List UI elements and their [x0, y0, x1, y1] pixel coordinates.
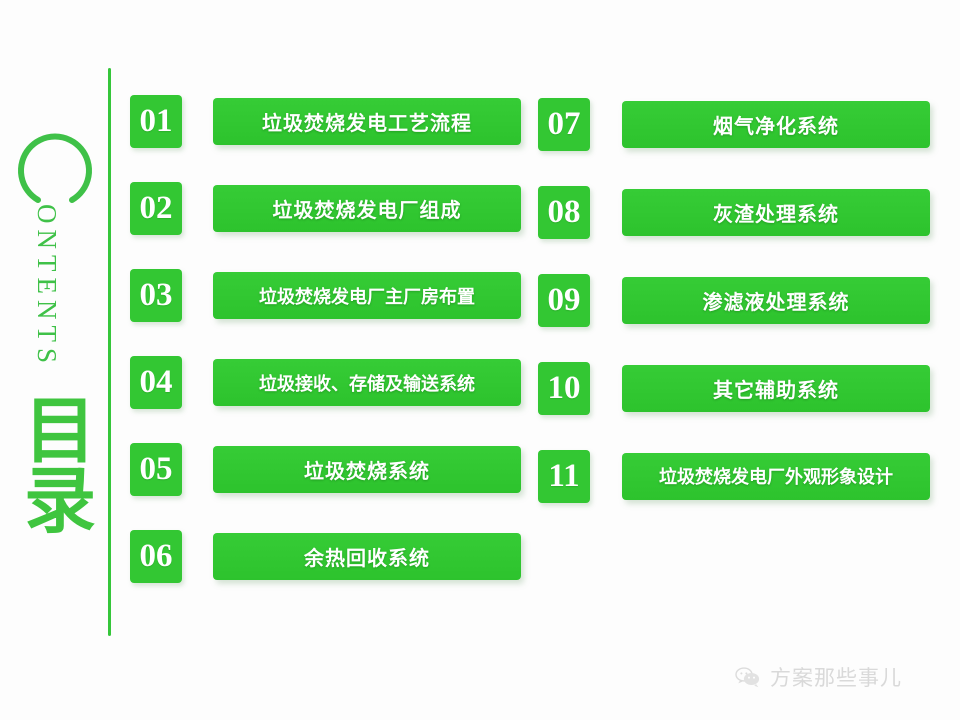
toc-title-bar[interactable]: 其它辅助系统 — [622, 365, 930, 412]
contents-c-letter-ring — [14, 118, 96, 206]
toc-item[interactable]: 11 垃圾焚烧发电厂外观形象设计 — [538, 450, 930, 502]
toc-number-badge: 10 — [538, 362, 590, 415]
toc-title-bar[interactable]: 垃圾焚烧发电厂外观形象设计 — [622, 453, 930, 500]
toc-number-badge: 05 — [130, 443, 182, 496]
toc-item[interactable]: 02 垃圾焚烧发电厂组成 — [130, 182, 521, 235]
toc-number-badge: 03 — [130, 269, 182, 322]
contents-cjk-heading: 目 录 — [22, 396, 98, 536]
toc-title-bar[interactable]: 垃圾焚烧发电厂组成 — [213, 185, 521, 232]
toc-number-badge: 04 — [130, 356, 182, 409]
toc-item[interactable]: 06 余热回收系统 — [130, 530, 521, 583]
c-ring-icon — [14, 118, 96, 206]
toc-number-badge: 02 — [130, 182, 182, 235]
toc-item[interactable]: 04 垃圾接收、存储及输送系统 — [130, 356, 521, 409]
contents-latin-word: ONTENTS — [19, 204, 75, 404]
toc-title-bar[interactable]: 灰渣处理系统 — [622, 189, 930, 236]
toc-title-bar[interactable]: 渗滤液处理系统 — [622, 277, 930, 324]
toc-number-badge: 11 — [538, 450, 590, 503]
contents-slide: ONTENTS 目 录 01 垃圾焚烧发电工艺流程 02 垃圾焚烧发电厂组成 0… — [0, 0, 960, 720]
toc-number-badge: 06 — [130, 530, 182, 583]
toc-number-badge: 01 — [130, 95, 182, 148]
toc-number-badge: 07 — [538, 98, 590, 151]
wechat-bubbles-icon — [735, 666, 761, 688]
toc-title-bar[interactable]: 垃圾焚烧系统 — [213, 446, 521, 493]
toc-item[interactable]: 08 灰渣处理系统 — [538, 186, 930, 238]
watermark: 方案那些事儿 — [735, 662, 902, 692]
contents-cjk-char-1: 目 — [22, 396, 98, 466]
toc-number-badge: 08 — [538, 186, 590, 239]
toc-item[interactable]: 03 垃圾焚烧发电厂主厂房布置 — [130, 269, 521, 322]
contents-cjk-char-2: 录 — [22, 466, 98, 536]
toc-column-right: 07 烟气净化系统 08 灰渣处理系统 09 渗滤液处理系统 10 其它辅助系统… — [538, 98, 930, 538]
toc-column-left: 01 垃圾焚烧发电工艺流程 02 垃圾焚烧发电厂组成 03 垃圾焚烧发电厂主厂房… — [130, 95, 521, 617]
toc-item[interactable]: 07 烟气净化系统 — [538, 98, 930, 150]
toc-title-bar[interactable]: 垃圾接收、存储及输送系统 — [213, 359, 521, 406]
vertical-divider — [108, 68, 111, 636]
toc-item[interactable]: 09 渗滤液处理系统 — [538, 274, 930, 326]
toc-title-bar[interactable]: 余热回收系统 — [213, 533, 521, 580]
toc-title-bar[interactable]: 垃圾焚烧发电厂主厂房布置 — [213, 272, 521, 319]
toc-item[interactable]: 01 垃圾焚烧发电工艺流程 — [130, 95, 521, 148]
toc-number-badge: 09 — [538, 274, 590, 327]
toc-item[interactable]: 05 垃圾焚烧系统 — [130, 443, 521, 496]
toc-item[interactable]: 10 其它辅助系统 — [538, 362, 930, 414]
toc-title-bar[interactable]: 烟气净化系统 — [622, 101, 930, 148]
toc-title-bar[interactable]: 垃圾焚烧发电工艺流程 — [213, 98, 521, 145]
watermark-text: 方案那些事儿 — [770, 662, 902, 692]
